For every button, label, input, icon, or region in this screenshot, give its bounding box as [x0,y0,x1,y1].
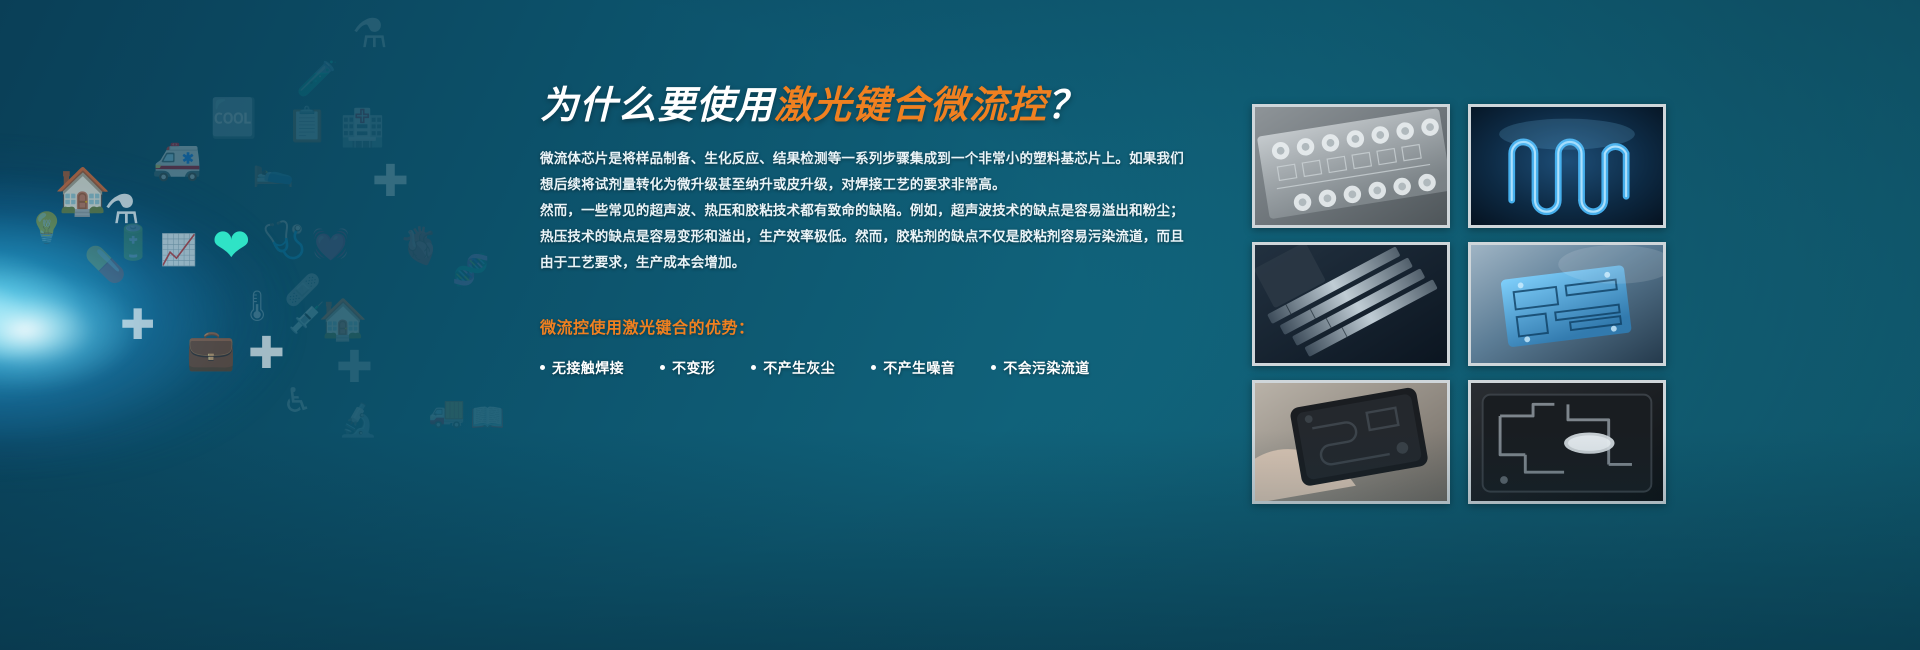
first-aid-kit-icon: 💼 [186,330,236,370]
ambulance-icon: 🚑 [152,140,202,180]
heartbeat-icon: 💓 [312,230,349,260]
test-tube-icon: 🧪 [296,62,338,96]
microfluidic-blue-manifold-photo [1471,245,1663,365]
microfluidic-serpentine-channel-photo [1471,107,1663,227]
headline-suffix: ？ [1047,85,1086,127]
stethoscope-icon: 🩺 [262,222,307,258]
pulse-line-icon: 📈 [160,236,197,266]
house-medical-icon: 🏠 [54,168,111,214]
list-item: 不产生灰尘 [751,358,835,378]
clipboard-icon: 📋 [286,108,328,142]
heart-icon: ❤ [212,222,251,268]
truck-icon: 🚚 [428,398,465,428]
list-item: 无接触焊接 [540,358,624,378]
house-medical-icon-2: 🏠 [318,300,368,340]
battery-icon: 🔋 [112,226,154,260]
list-item-label: 不变形 [672,358,715,378]
paragraph-line-2: 想后续将试剂量转化为微升级甚至纳升或皮升级，对焊接工艺的要求非常高。 [540,172,1200,198]
advantages-list: 无接触焊接 不变形 不产生灰尘 不产生噪音 不会污染流道 [540,358,1200,378]
gallery-item-4[interactable] [1468,242,1666,366]
advantages-subheading: 微流控使用激光键合的优势： [540,314,1200,338]
banner-content: 为什么要使用激光键合微流控？ 微流体芯片是将样品制备、生化反应、结果检测等一系列… [540,86,1200,378]
bullet-dot-icon [991,365,996,370]
microfluidic-slide-array-photo [1255,245,1447,365]
list-item-label: 不会污染流道 [1003,358,1089,378]
hospital-building-icon: 🏥 [340,110,385,146]
bullet-dot-icon [751,365,756,370]
headline-highlight: 激光键合微流控 [774,85,1047,127]
lamp-icon: 💡 [28,214,65,244]
wheelchair-icon: ♿ [282,384,312,418]
book-icon: 📖 [470,404,505,432]
paragraph-line-5: 由于工艺要求，生产成本会增加。 [540,250,1200,276]
bullet-dot-icon [540,365,545,370]
gallery-item-1[interactable] [1252,104,1450,228]
dna-icon: 🧬 [452,256,489,286]
plus-cross-icon: ✚ [372,160,409,204]
promo-banner: ⚗ 🧪 🆒 📋 🏥 🚑 🛌 ✚ 🏠 💡 ⚗ 💊 🔋 📈 ❤ 🩺 💓 🫀 🩹 🌡 … [0,0,1920,650]
syringe-icon: 💉 [288,304,325,334]
list-item-label: 不产生灰尘 [763,358,835,378]
paragraph-line-3: 然而，一些常见的超声波、热压和胶粘技术都有致命的缺陷。例如，超声波技术的缺点是容… [540,198,1200,224]
headline-prefix: 为什么要使用 [540,85,774,127]
plus-cross-icon-2: ✚ [248,332,285,376]
bullet-dot-icon [660,365,665,370]
list-item-label: 不产生噪音 [883,358,955,378]
list-item-label: 无接触焊接 [552,358,624,378]
paragraph-line-1: 微流体芯片是将样品制备、生化反应、结果检测等一系列步骤集成到一个非常小的塑料基芯… [540,146,1200,172]
microfluidic-chip-wells-photo [1255,107,1447,227]
medical-bag-icon: ✚ [120,304,155,346]
paragraph-line-4: 热压技术的缺点是容易变形和溢出，生产效率极低。然而，胶粘剂的缺点不仅是胶粘剂容易… [540,224,1200,250]
flask-icon: ⚗ [352,14,388,54]
gallery-item-2[interactable] [1468,104,1666,228]
plus-cross-icon-3: ✚ [336,346,373,390]
bottom-fade-overlay [0,430,1920,650]
description-paragraphs: 微流体芯片是将样品制备、生化反应、结果检测等一系列步骤集成到一个非常小的塑料基芯… [540,146,1200,276]
list-item: 不变形 [660,358,715,378]
list-item: 不产生噪音 [871,358,955,378]
gallery-item-3[interactable] [1252,242,1450,366]
list-item: 不会污染流道 [991,358,1089,378]
thermometer-icon: 🌡 [238,292,276,322]
id-card-icon: 🆒 [210,100,257,138]
page-title: 为什么要使用激光键合微流控？ [540,86,1200,128]
bullet-dot-icon [871,365,876,370]
hospital-bed-icon: 🛌 [252,152,294,186]
kidney-icon: 🫀 [398,228,443,264]
